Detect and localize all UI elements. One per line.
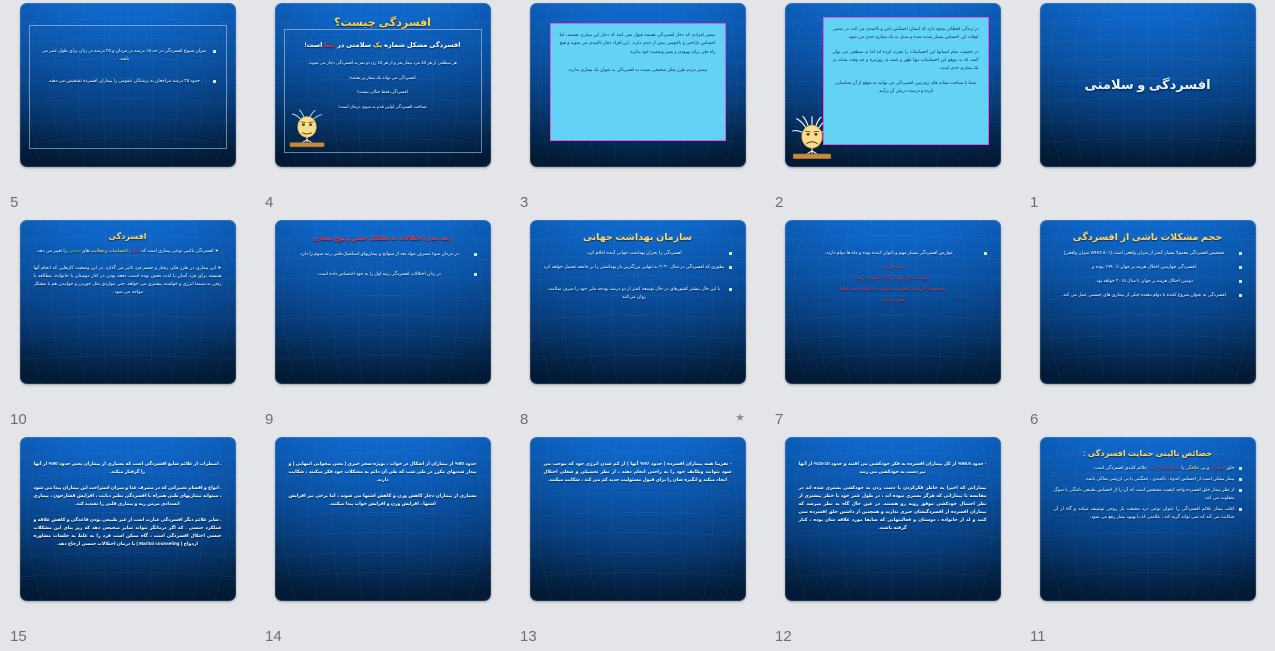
rich-text-span: علاقگی (1185, 465, 1199, 470)
bullet-item: در مردان سوء مصرف مواد بعد از سوانح و بی… (289, 250, 477, 258)
slide-title: خصائص بالینی حمایت افسردگی : (1048, 449, 1248, 458)
box-paragraph: بیشتر مردم طرز تفکر صحیحی نسبت به افسردگ… (560, 66, 716, 74)
slide-canvas[interactable]: عوارض افسردگی بسیار مهم و ناتوان کننده ب… (785, 220, 1001, 384)
bullet-item: بطوری که افسردگی در سال ۲۰۳۰ به تنهایی ب… (544, 263, 732, 279)
rich-text-span: علائم کلیدی افسردگی است. (1093, 465, 1148, 470)
bullet-item: در زنان اختلالات افسردگی رتبه اول را به … (289, 270, 477, 278)
rich-text-span: ، احساسات و فعالیت (89, 248, 130, 253)
slide-content: حجم مشکلات ناشی از افسردگی تشخیص افسردگی… (1040, 220, 1256, 384)
animation-star-icon[interactable]: ★ (735, 413, 745, 424)
slide-thumbnail[interactable]: عوارض افسردگی بسیار مهم و ناتوان کننده ب… (785, 220, 1001, 384)
slide-thumbnail[interactable]: میزان شیوع افسردگی در حد ۱۵ درصد در مردا… (20, 3, 236, 167)
slide-number: 3 (520, 194, 528, 211)
rich-text-span: و بی (1199, 465, 1210, 470)
slide-thumbnail[interactable]: حدود 80% از بیماران از اشکال در خواب ، ب… (275, 437, 491, 601)
slide-title: سازمان بهداشت جهانی (538, 232, 738, 243)
slide-canvas[interactable]: رتبه بندی اختلالات به تفکیک جنس و نوع بی… (275, 220, 491, 384)
slide-canvas[interactable]: سازمان بهداشت جهانی افسردگی را بحران بهد… (530, 220, 746, 384)
slide-canvas[interactable]: بیشتر افرادی که دچار افسردگی هستند قبول … (530, 3, 746, 167)
slide-number: 5 (10, 194, 18, 211)
slide-cell[interactable]: . اضطراب از علائم شایع افسردگی است که بس… (0, 434, 255, 651)
rich-paragraph: ➤ افسردگی بالینی نوعی بیماری است که افکا… (28, 247, 228, 255)
cyan-content-box: در زندگی لحظاتی وجود دارد که انسان احساس… (823, 17, 989, 145)
red-line: مخرب است. (801, 296, 985, 304)
bullet-item: اغلب بیمار علائم افسردگی را عنوان نوعی د… (1054, 505, 1242, 521)
slide-cell[interactable]: خصائص بالینی حمایت افسردگی : خلق افسرده … (1020, 434, 1275, 651)
rich-text-span: افسرده (1210, 465, 1225, 470)
bullet-item: تشخیص افسردگی معمولا بسیار کمتر از میزان… (1054, 249, 1242, 257)
paragraph: . سایر علائم دیگر افسردگی عبارت است از غ… (28, 516, 228, 548)
bullet-list: عوارض افسردگی بسیار مهم و ناتوان کننده ب… (793, 249, 993, 257)
frame-paragraph: افسردگی می تواند یک بیمار پر بخشد! (289, 74, 477, 82)
bullet-item: بیمار ممکن است از احساس اندوه ، ناامیدی … (1054, 475, 1242, 483)
rich-text-span: دنیا (324, 42, 335, 49)
slide-cell[interactable]: حدود 80% از بیماران از اشکال در خواب ، ب… (255, 434, 510, 651)
slide-number: 8 (520, 411, 528, 428)
rich-text-span: را تغییر می دهد. (36, 248, 68, 253)
slide-number: 1 (1030, 194, 1038, 211)
rich-paragraph: ➤ این بیماری در طرز فکر، رفتار و جسم فرد… (28, 264, 228, 296)
slide-number: 2 (775, 194, 783, 211)
rich-text-span: افسردگی بالینی نوعی بیماری است که (140, 248, 214, 253)
slide-cell[interactable]: افسردگی و سلامتی 1 (1020, 0, 1275, 217)
rich-text-span: بیمار ممکن است از احساس اندوه ، ناامیدی … (1085, 476, 1235, 481)
slide-canvas[interactable]: افسردگی و سلامتی (1040, 3, 1256, 167)
slide-thumbnail[interactable]: سازمان بهداشت جهانی افسردگی را بحران بهد… (530, 220, 746, 384)
slide-number: 10 (10, 411, 27, 428)
slide-canvas[interactable]: - حدود 66.6% از کل بیماران افسرده به فکر… (785, 437, 1001, 601)
frame-paragraph: هر سطحی از هر 10 مرد بیمار نفر و از هر 1… (289, 59, 477, 67)
slide-cell[interactable]: افسردگی ➤ افسردگی بالینی نوعی بیماری است… (0, 217, 255, 434)
box-paragraph: بیشتر افرادی که دچار افسردگی هستند قبول … (560, 31, 716, 56)
rich-text-span: عدم لحصان لذت (1148, 465, 1180, 470)
slide-title: رتبه بندی اختلالات به تفکیک جنس و نوع بی… (283, 235, 483, 242)
slide-thumbnail[interactable]: در زندگی لحظاتی وجود دارد که انسان احساس… (785, 3, 1001, 167)
paragraph: بیمارانی که اخیرا به خاطر فکرکردن یا دست… (793, 484, 993, 532)
rich-text-span: از نظر بیمار خلق افسرده واجد کیفیت مشخص … (1054, 487, 1235, 500)
slide-thumbnail[interactable]: - تقریبا همه بیماران افسرده ( حدود 97% آ… (530, 437, 746, 601)
bullet-item: افسردگی به عنوان شروع کننده یا دوام دهند… (1054, 291, 1242, 299)
bullet-item: افسردگی را بحران بهداشت جهانی آینده اعلا… (544, 249, 732, 257)
slide-content: بیشتر افرادی که دچار افسردگی هستند قبول … (530, 3, 746, 167)
red-line: ازدست دادن توانائی کار، شغل و درآمد (801, 274, 985, 282)
cyan-content-box: بیشتر افرادی که دچار افسردگی هستند قبول … (550, 23, 726, 141)
paragraph-block: . اضطراب از علائم شایع افسردگی است که بس… (28, 442, 228, 548)
content-frame: میزان شیوع افسردگی در حد ۱۵ درصد در مردا… (29, 25, 227, 149)
bullet-list: در مردان سوء مصرف مواد بعد از سوانح و بی… (283, 250, 483, 278)
rich-text-span: یک (373, 42, 382, 49)
paragraph: - حدود 66.6% از کل بیماران افسرده به فکر… (793, 460, 993, 476)
slide-title: حجم مشکلات ناشی از افسردگی (1048, 232, 1248, 243)
slide-cell[interactable]: رتبه بندی اختلالات به تفکیک جنس و نوع بی… (255, 217, 510, 434)
slide-canvas[interactable]: حجم مشکلات ناشی از افسردگی تشخیص افسردگی… (1040, 220, 1256, 384)
slide-thumbnail[interactable]: خصائص بالینی حمایت افسردگی : خلق افسرده … (1040, 437, 1256, 601)
red-line: افت کارائی (801, 263, 985, 271)
chevron-bullet-icon: ➤ (215, 248, 219, 253)
paragraph: بسیاری از بیماران دچار کاهش وزن و کاهش ا… (283, 492, 483, 508)
box-paragraph: شما با شناخت نشانه های زودرس، افسردگی می… (833, 79, 979, 96)
slide-number: 12 (775, 628, 792, 645)
rich-text-span: های (81, 248, 90, 253)
slide-number: 6 (1030, 411, 1038, 428)
bullet-item: افسردگی چهارمین اختلال هزینه بر جهان تا … (1054, 263, 1242, 271)
bullet-item: دومین اختلال هزینه بر جهان تا سال ۲۰۱۵ خ… (1054, 277, 1242, 285)
box-paragraph: در حقیقت تمام انسانها این احساسات را تجر… (833, 48, 979, 73)
rich-text-span: اغلب بیمار علائم افسردگی را عنوان نوعی د… (1054, 506, 1235, 519)
slide-content: افسردگی چیست؟ افسردگی مشکل شماره یک سلام… (275, 3, 491, 167)
slide-canvas[interactable]: - تقریبا همه بیماران افسرده ( حدود 97% آ… (530, 437, 746, 601)
slide-cell[interactable]: عوارض افسردگی بسیار مهم و ناتوان کننده ب… (765, 217, 1020, 434)
slide-cell[interactable]: میزان شیوع افسردگی در حد ۱۵ درصد در مردا… (0, 0, 255, 217)
slide-number: 9 (265, 411, 273, 428)
bullet-list: خلق افسرده و بی علاقگی یا عدم لحصان لذت … (1048, 464, 1248, 521)
frame-paragraph: افسردگی فقط خیالی نیست! (289, 88, 477, 96)
slide-content: رتبه بندی اختلالات به تفکیک جنس و نوع بی… (275, 220, 491, 384)
slide-thumbnail[interactable]: - حدود 66.6% از کل بیماران افسرده به فکر… (785, 437, 1001, 601)
slide-cell[interactable]: در زندگی لحظاتی وجود دارد که انسان احساس… (765, 0, 1020, 217)
paragraph-block: - حدود 66.6% از کل بیماران افسرده به فکر… (793, 442, 993, 532)
angry-face-character-icon (287, 107, 327, 151)
slide-title: افسردگی چیست؟ (283, 16, 483, 29)
slide-cell[interactable]: - تقریبا همه بیماران افسرده ( حدود 97% آ… (510, 434, 765, 651)
slide-thumbnail[interactable]: افسردگی چیست؟ افسردگی مشکل شماره یک سلام… (275, 3, 491, 167)
slide-canvas[interactable]: افسردگی چیست؟ افسردگی مشکل شماره یک سلام… (275, 3, 491, 167)
slide-cell[interactable]: - حدود 66.6% از کل بیماران افسرده به فکر… (765, 434, 1020, 651)
slide-canvas[interactable]: حدود 80% از بیماران از اشکال در خواب ، ب… (275, 437, 491, 601)
slide-thumbnail[interactable]: بیشتر افرادی که دچار افسردگی هستند قبول … (530, 3, 746, 167)
slide-number: 11 (1030, 628, 1046, 645)
bullet-list: تشخیص افسردگی معمولا بسیار کمتر از میزان… (1048, 249, 1248, 299)
slide-cell[interactable]: افسردگی چیست؟ افسردگی مشکل شماره یک سلام… (255, 0, 510, 217)
slide-thumbnail[interactable]: . اضطراب از علائم شایع افسردگی است که بس… (20, 437, 236, 601)
slide-canvas[interactable]: افسردگی ➤ افسردگی بالینی نوعی بیماری است… (20, 220, 236, 384)
slide-content: افسردگی و سلامتی (1040, 3, 1256, 167)
slide-canvas[interactable]: . اضطراب از علائم شایع افسردگی است که بس… (20, 437, 236, 601)
chevron-bullet-icon: ➤ (218, 265, 222, 270)
slide-cell[interactable]: بیشتر افرادی که دچار افسردگی هستند قبول … (510, 0, 765, 217)
bullet-item: با این حال بیشتر کشورهای در حال توسعه کم… (544, 285, 732, 301)
slide-thumbnail[interactable]: افسردگی و سلامتی (1040, 3, 1256, 167)
rich-text-span: شخص (68, 248, 80, 253)
slide-content: خصائص بالینی حمایت افسردگی : خلق افسرده … (1040, 437, 1256, 601)
slide-cell[interactable]: حجم مشکلات ناشی از افسردگی تشخیص افسردگی… (1020, 217, 1275, 434)
slide-content: در زندگی لحظاتی وجود دارد که انسان احساس… (785, 3, 1001, 167)
slide-number: 7 (775, 411, 783, 428)
paragraph-block: - تقریبا همه بیماران افسرده ( حدود 97% آ… (538, 442, 738, 484)
slide-thumbnail[interactable]: حجم مشکلات ناشی از افسردگی تشخیص افسردگی… (1040, 220, 1256, 384)
slide-number: 13 (520, 628, 537, 645)
slide-canvas[interactable]: خصائص بالینی حمایت افسردگی : خلق افسرده … (1040, 437, 1256, 601)
rich-text-span: این بیماری در طرز فکر، رفتار و جسم فرد ت… (34, 265, 222, 294)
slide-title: افسردگی (28, 232, 228, 241)
bullet-item: حدود ۲۵ درصد مراجعان به پزشکان عمومی را … (40, 77, 216, 85)
rich-text-span: خلق (1225, 465, 1234, 470)
slide-canvas[interactable]: در زندگی لحظاتی وجود دارد که انسان احساس… (785, 3, 1001, 167)
slide-content: . اضطراب از علائم شایع افسردگی است که بس… (20, 437, 236, 601)
bullet-item: از نظر بیمار خلق افسرده واجد کیفیت مشخص … (1054, 486, 1242, 502)
slide-number: 15 (10, 628, 27, 645)
slide-content: سازمان بهداشت جهانی افسردگی را بحران بهد… (530, 220, 746, 384)
bullet-item: میزان شیوع افسردگی در حد ۱۵ درصد در مردا… (40, 47, 216, 63)
slide-thumbnail[interactable]: افسردگی ➤ افسردگی بالینی نوعی بیماری است… (20, 220, 236, 384)
slide-cell[interactable]: سازمان بهداشت جهانی افسردگی را بحران بهد… (510, 217, 765, 434)
paragraph: - تقریبا همه بیماران افسرده ( حدود 97% آ… (538, 460, 738, 484)
slide-thumbnail[interactable]: رتبه بندی اختلالات به تفکیک جنس و نوع بی… (275, 220, 491, 384)
slide-sorter-grid[interactable]: افسردگی و سلامتی 1 در زندگی لحظات (0, 0, 1275, 651)
red-line: مخصوصا اگر بیمار افسرده سرپرست خانواده ب… (801, 285, 985, 293)
slide-content: عوارض افسردگی بسیار مهم و ناتوان کننده ب… (785, 220, 1001, 384)
bullet-list: افسردگی را بحران بهداشت جهانی آینده اعلا… (538, 249, 738, 301)
slide-content: افسردگی ➤ افسردگی بالینی نوعی بیماری است… (20, 220, 236, 384)
slide-canvas[interactable]: میزان شیوع افسردگی در حد ۱۵ درصد در مردا… (20, 3, 236, 167)
box-paragraph: در زندگی لحظاتی وجود دارد که انسان احساس… (833, 25, 979, 42)
slide-number: 14 (265, 628, 282, 645)
rich-text-span: افکار (130, 248, 140, 253)
english-term: Marital counseling (139, 540, 179, 548)
slide-content: - حدود 66.6% از کل بیماران افسرده به فکر… (785, 437, 1001, 601)
headline: افسردگی مشکل شماره یک سلامتی در دنیا است… (289, 41, 477, 49)
rich-text-span: سلامتی در (335, 42, 373, 49)
rich-text-span: افسردگی مشکل شماره (382, 42, 460, 49)
paragraph-block: حدود 80% از بیماران از اشکال در خواب ، ب… (283, 442, 483, 508)
bullet-list: میزان شیوع افسردگی در حد ۱۵ درصد در مردا… (34, 47, 222, 85)
bullet-item: عوارض افسردگی بسیار مهم و ناتوان کننده ب… (799, 249, 987, 257)
paragraph: . اضطراب از علائم شایع افسردگی است که بس… (28, 460, 228, 476)
rich-text-span: است! (304, 42, 324, 49)
paragraph: حدود 80% از بیماران از اشکال در خواب ، ب… (283, 460, 483, 484)
slide-number: 4 (265, 194, 273, 211)
slide-main-title: افسردگی و سلامتی (1084, 77, 1210, 93)
slide-content: - تقریبا همه بیماران افسرده ( حدود 97% آ… (530, 437, 746, 601)
slide-content: میزان شیوع افسردگی در حد ۱۵ درصد در مردا… (20, 3, 236, 167)
paragraph: . انواع و اقسام تغییراتی که در مصرف غذا … (28, 484, 228, 508)
bullet-item: خلق افسرده و بی علاقگی یا عدم لحصان لذت … (1054, 464, 1242, 472)
slide-content: حدود 80% از بیماران از اشکال در خواب ، ب… (275, 437, 491, 601)
red-note: افت کارائیازدست دادن توانائی کار، شغل و … (793, 263, 993, 304)
